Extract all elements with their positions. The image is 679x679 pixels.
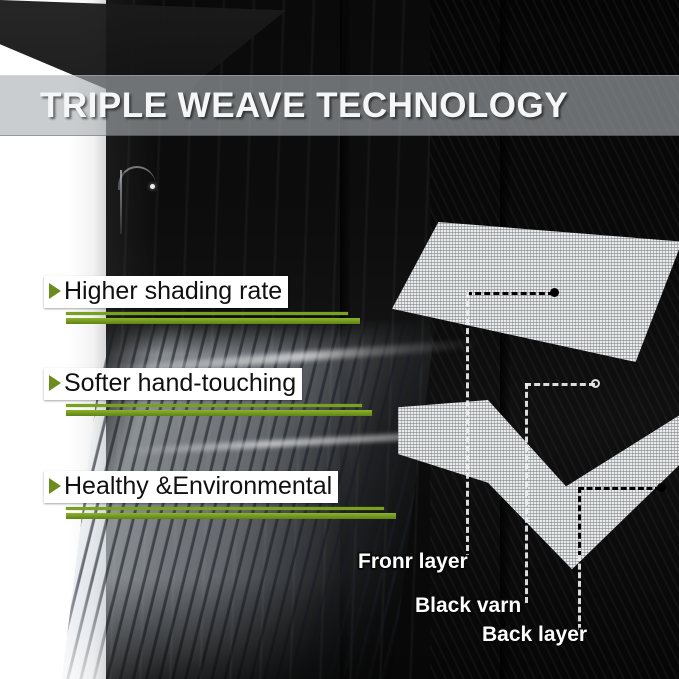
back-layer-leader-dot — [657, 483, 666, 492]
feature-label-text: Higher shading rate — [64, 278, 282, 305]
black-yarn-leader-line — [525, 383, 595, 386]
feature-label-box: Softer hand-touching — [44, 368, 302, 400]
feature-underline-thick — [66, 513, 396, 519]
front-layer-leader-line — [466, 292, 554, 295]
front-layer-caption-connector — [466, 292, 469, 560]
feature-item-healthy[interactable]: Healthy &Environmental — [44, 471, 338, 521]
feature-item-hand-touch[interactable]: Softer hand-touching — [44, 368, 302, 418]
title-banner: TRIPLE WEAVE TECHNOLOGY — [0, 75, 679, 136]
back-layer-caption-connector-lower — [578, 555, 581, 630]
feature-label-box: Higher shading rate — [44, 276, 288, 308]
feature-underline-thick — [66, 410, 372, 416]
feature-underline-thin — [66, 312, 348, 315]
page-title: TRIPLE WEAVE TECHNOLOGY — [40, 86, 568, 126]
triangle-right-icon — [49, 478, 61, 494]
feature-label-text: Softer hand-touching — [64, 370, 296, 397]
feature-row: Softer hand-touching — [44, 368, 302, 400]
feature-row: Higher shading rate — [44, 276, 288, 308]
caption-front-layer: Fronr layer — [358, 550, 468, 574]
feature-label-box: Healthy &Environmental — [44, 471, 338, 503]
caption-black-yarn: Black varn — [415, 594, 521, 618]
feature-underline-thin — [66, 404, 362, 407]
black-yarn-leader-dot — [591, 379, 600, 388]
curtain-rod — [120, 170, 122, 234]
feature-item-shading[interactable]: Higher shading rate — [44, 276, 288, 326]
product-infographic: TRIPLE WEAVE TECHNOLOGY Higher shading r… — [0, 0, 679, 679]
feature-underline-group — [44, 404, 302, 418]
feature-underline-thick — [66, 318, 360, 324]
triangle-right-icon — [49, 375, 61, 391]
triangle-right-icon — [49, 283, 61, 299]
caption-back-layer: Back layer — [482, 623, 587, 647]
front-layer-leader-dot — [550, 288, 559, 297]
feature-underline-thin — [66, 507, 384, 510]
feature-underline-group — [44, 507, 338, 521]
back-layer-leader-line — [578, 487, 661, 490]
feature-row: Healthy &Environmental — [44, 471, 338, 503]
black-yarn-caption-connector — [525, 383, 528, 603]
curtain-hook-dot — [150, 184, 155, 189]
feature-label-text: Healthy &Environmental — [64, 473, 332, 500]
back-layer-caption-connector-upper — [578, 487, 581, 557]
feature-underline-group — [44, 312, 288, 326]
